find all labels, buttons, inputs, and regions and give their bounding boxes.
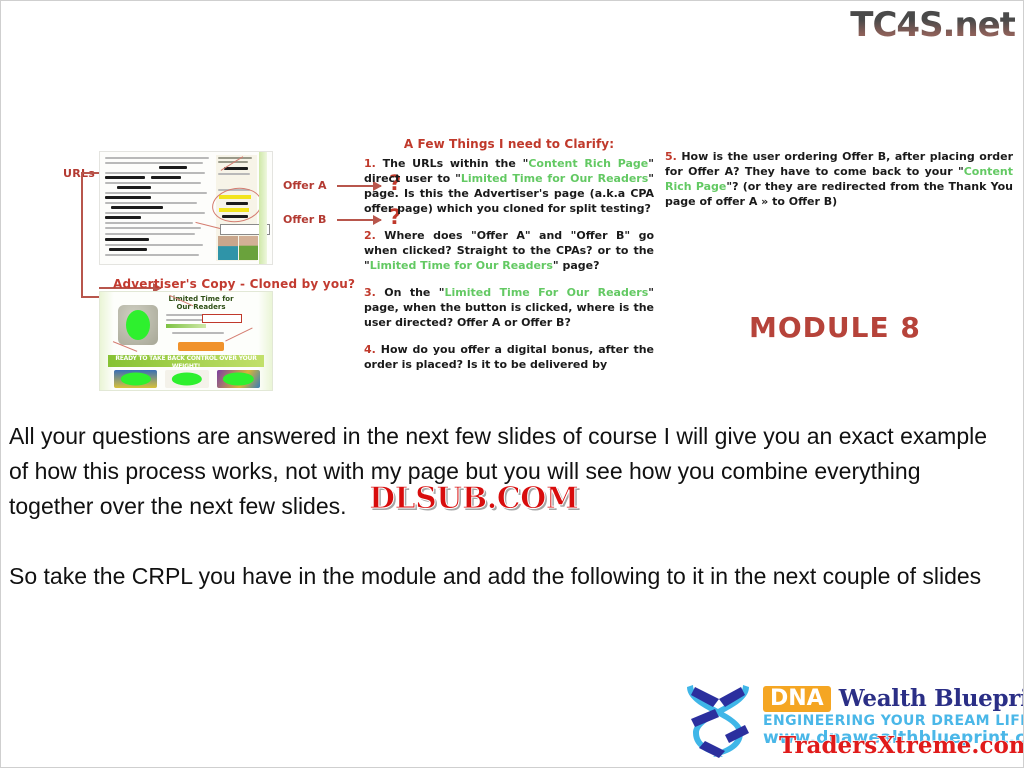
advertiser-cta-button[interactable] [178, 342, 224, 351]
advertiser-pointer-2 [225, 327, 253, 341]
advertiser-copy-thumbnail: Limited Time for Our Readers READY TO TA… [99, 291, 273, 391]
paragraph-spacer [9, 524, 1009, 559]
slide-body-text: All your questions are answered in the n… [9, 419, 1009, 594]
slide-image-region: URLs [1, 119, 1024, 404]
question-number: 1. [364, 157, 376, 170]
body-paragraph-2: So take the CRPL you have in the module … [9, 559, 1009, 594]
highlighted-term: Content Rich Page [528, 157, 648, 170]
product-censor-1 [120, 373, 150, 386]
advertiser-banner-text: READY TO TAKE BACK CONTROL OVER YOUR WEI… [108, 355, 264, 371]
question-number: 5. [665, 150, 677, 163]
highlighted-term: Limited Time For Our Readers [445, 286, 649, 299]
left-diagram: URLs [37, 139, 327, 404]
logo-wealth-blueprint: Wealth Blueprint [839, 685, 1024, 712]
question-text: The URLs within the " [376, 157, 529, 170]
slide-canvas: TC4S.net URLs [0, 0, 1024, 768]
advertiser-progress-bar [166, 324, 206, 328]
question-number: 4. [364, 343, 376, 356]
question-number: 3. [364, 286, 376, 299]
questions-column: A Few Things I need to Clarify: 1. The U… [364, 137, 654, 384]
logo-tagline: ENGINEERING YOUR DREAM LIFESTYLE [763, 713, 1024, 729]
product-image-3 [217, 370, 260, 388]
product-censor-3 [223, 373, 253, 386]
question-text: " page? [553, 259, 600, 272]
product-jar-censor [126, 310, 150, 340]
offer-b-label: Offer B [283, 213, 326, 226]
questions-heading: A Few Things I need to Clarify: [364, 137, 654, 151]
advertiser-product-row [114, 370, 260, 388]
offer-a-label: Offer A [283, 179, 327, 192]
dna-helix-icon [679, 679, 757, 759]
thumbnail-photos [218, 236, 258, 260]
question-5: 5. How is the user ordering Offer B, aft… [665, 149, 1013, 209]
questions-list: 1. The URLs within the "Content Rich Pag… [364, 156, 654, 372]
dna-wealth-blueprint-logo: DNAWealth Blueprint ENGINEERING YOUR DRE… [679, 677, 1017, 761]
product-image-2 [165, 370, 208, 388]
question-item: 1. The URLs within the "Content Rich Pag… [364, 156, 654, 216]
question-number: 2. [364, 229, 376, 242]
question-5-column: 5. How is the user ordering Offer B, aft… [665, 149, 1013, 209]
logo-dna-badge: DNA [763, 686, 831, 712]
advertiser-banner: READY TO TAKE BACK CONTROL OVER YOUR WEI… [108, 355, 264, 367]
question-text: How is the user ordering Offer B, after … [665, 150, 1013, 178]
question-item: 4. How do you offer a digital bonus, aft… [364, 342, 654, 372]
question-text: On the " [376, 286, 445, 299]
content-rich-page-thumbnail [99, 151, 273, 265]
question-item: 2. Where does "Offer A" and "Offer B" go… [364, 228, 654, 273]
highlighted-term: Limited Time for Our Readers [370, 259, 553, 272]
thumbnail-green-edge [259, 152, 267, 264]
product-image-1 [114, 370, 157, 388]
question-text: How do you offer a digital bonus, after … [364, 343, 654, 371]
body-paragraph-1: All your questions are answered in the n… [9, 419, 1009, 524]
tc4s-watermark: TC4S.net [850, 5, 1015, 45]
module-label: MODULE 8 [749, 311, 921, 344]
question-item: 3. On the "Limited Time For Our Readers"… [364, 285, 654, 330]
product-censor-2 [172, 373, 202, 386]
advertiser-copy-title: Advertiser's Copy - Cloned by you? [113, 277, 355, 291]
thumbnail-text-column [103, 155, 213, 261]
tradersxtreme-watermark: TradersXtreme.com [779, 732, 1024, 759]
highlighted-term: Limited Time for Our Readers [461, 172, 648, 185]
advertiser-email-input[interactable] [202, 314, 242, 323]
